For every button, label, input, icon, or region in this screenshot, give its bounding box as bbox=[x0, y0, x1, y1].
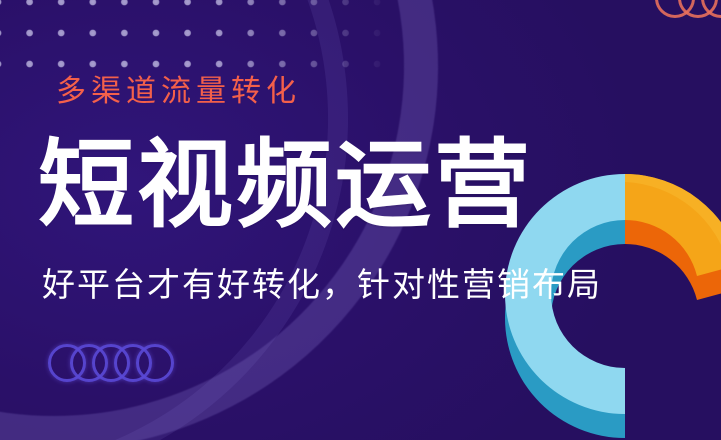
text-layer: 多渠道流量转化 短视频运营 好平台才有好转化，针对性营销布局 bbox=[0, 0, 721, 440]
eyebrow-text: 多渠道流量转化 bbox=[56, 66, 301, 110]
video-operations-banner: 多渠道流量转化 短视频运营 好平台才有好转化，针对性营销布局 bbox=[0, 0, 721, 440]
page-title: 短视频运营 bbox=[38, 138, 533, 234]
subtitle-text: 好平台才有好转化，针对性营销布局 bbox=[42, 258, 602, 306]
